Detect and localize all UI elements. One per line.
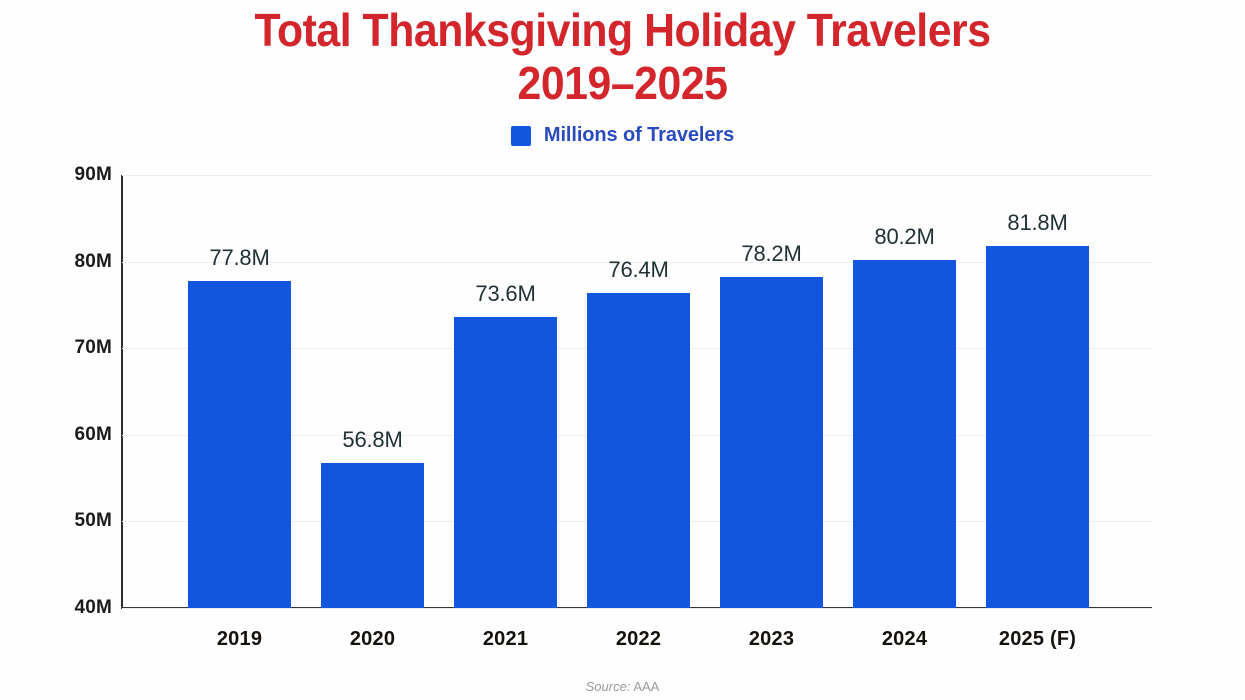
bar[interactable] (587, 293, 690, 608)
y-axis-tick-label: 70M (48, 337, 112, 359)
bar-value-label: 77.8M (160, 245, 320, 271)
bar-value-label: 73.6M (426, 281, 586, 307)
bar-value-label: 56.8M (293, 427, 453, 453)
gridline (122, 175, 1152, 176)
legend-swatch-icon (511, 126, 531, 146)
source-note: Source: AAA (0, 679, 1245, 694)
y-axis-tick-label: 60M (48, 424, 112, 446)
bar-value-label: 81.8M (958, 210, 1118, 236)
bar[interactable] (986, 246, 1089, 608)
bar[interactable] (720, 277, 823, 608)
bar[interactable] (454, 317, 557, 608)
bar[interactable] (321, 463, 424, 608)
plot-area: 77.8M56.8M73.6M76.4M78.2M80.2M81.8M (122, 175, 1152, 608)
x-axis-tick-label: 2025 (F) (958, 628, 1118, 651)
chart-title: Total Thanksgiving Holiday Travelers 201… (44, 4, 1202, 110)
legend-label: Millions of Travelers (544, 124, 734, 147)
bar[interactable] (188, 281, 291, 608)
bar[interactable] (853, 260, 956, 608)
source-value: AAA (630, 679, 659, 694)
source-prefix: Source: (586, 679, 631, 694)
y-axis-tick-labels: 90M80M70M60M50M40M (44, 175, 112, 608)
y-axis-tick-label: 80M (48, 251, 112, 273)
chart-legend: Millions of Travelers (0, 124, 1245, 147)
y-axis-tick-label: 90M (48, 164, 112, 186)
y-axis-tick-label: 40M (48, 597, 112, 619)
gridline (122, 608, 1152, 609)
x-axis-tick-labels: 2019202020212022202320242025 (F) (122, 628, 1152, 662)
y-axis-tick-label: 50M (48, 510, 112, 532)
